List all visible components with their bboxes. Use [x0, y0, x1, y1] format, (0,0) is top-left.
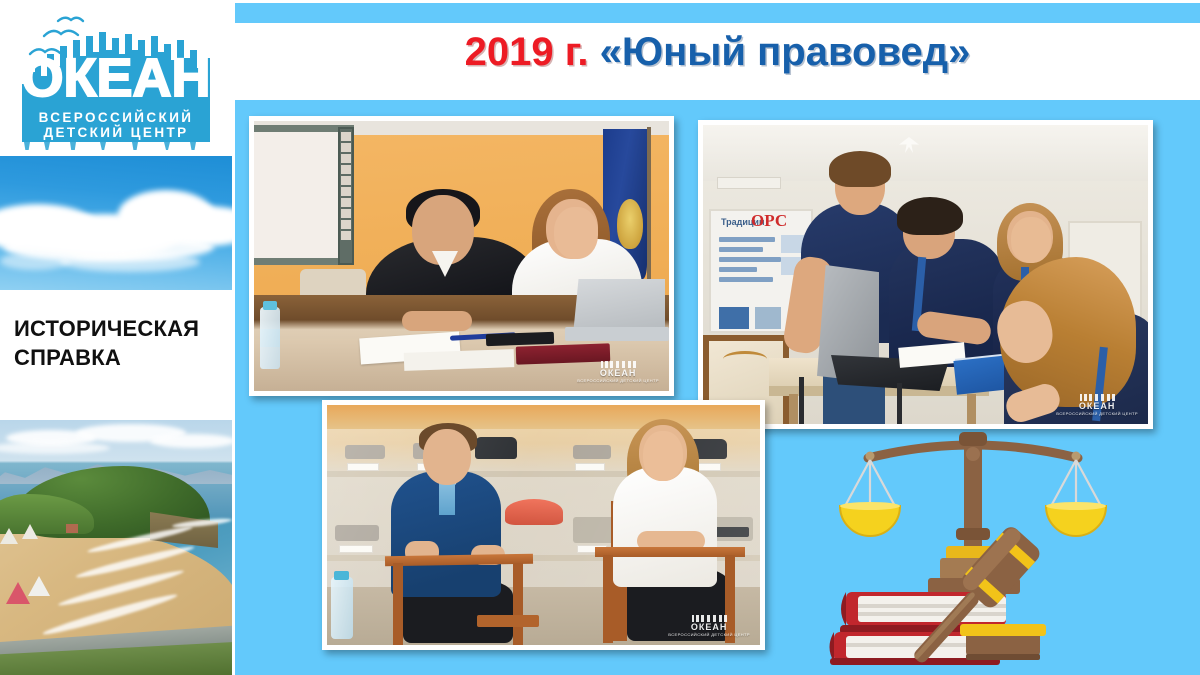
student-face: [643, 431, 683, 481]
tent: [6, 582, 30, 604]
wall-logo-text: ОРС: [751, 211, 787, 231]
title-year: 2019 г.: [465, 30, 589, 74]
tent: [0, 528, 18, 544]
tent: [22, 524, 38, 539]
skyline-icon: [690, 615, 728, 622]
sidebar-sky-photo: [0, 156, 232, 290]
desk-leg: [603, 555, 613, 643]
sidebar-logo-band: ОКЕАН ВСЕРОССИЙСКИЙ ДЕТСКИЙ ЦЕНТР: [0, 0, 232, 156]
paper-sheets: [404, 349, 515, 371]
sidebar: ОКЕАН ВСЕРОССИЙСКИЙ ДЕТСКИЙ ЦЕНТР ИСТОРИ…: [0, 0, 232, 675]
student-face: [1011, 217, 1051, 263]
student-hair: [897, 197, 963, 235]
water-bottle: [260, 307, 280, 369]
skyline-icon: [1078, 394, 1116, 401]
student-hands: [402, 311, 472, 331]
cloud-shape: [0, 442, 110, 454]
ocean-watermark: ОКЕАН ВСЕРОССИЙСКИЙ ДЕТСКИЙ ЦЕНТР: [577, 361, 659, 383]
student-face: [554, 207, 598, 259]
power-cable: [897, 383, 905, 424]
table-leg: [789, 394, 798, 424]
ocean-logo: ОКЕАН ВСЕРОССИЙСКИЙ ДЕТСКИЙ ЦЕНТР: [0, 8, 232, 148]
desk-leg: [393, 563, 403, 645]
school-desk: [595, 547, 745, 557]
sidebar-coast-photo: [0, 420, 232, 675]
title-program-name: «Юный правовед»: [600, 30, 971, 74]
sidebar-heading: ИСТОРИЧЕСКАЯ СПРАВКА: [14, 314, 229, 372]
water-bottle: [331, 577, 353, 639]
justice-illustration: [828, 420, 1118, 665]
watermark-subtext: ВСЕРОССИЙСКИЙ ДЕТСКИЙ ЦЕНТР: [577, 379, 659, 383]
tent: [28, 576, 50, 596]
flag-pole: [647, 127, 651, 295]
bottle-cap: [334, 571, 349, 580]
slide-canvas: 2019 г. «Юный правовед» ОК: [0, 0, 1200, 675]
photo-team-laptop[interactable]: Традиции ОРС: [698, 120, 1153, 429]
desk-leg: [513, 563, 523, 645]
page-title: 2019 г. «Юный правовед»: [235, 30, 1200, 75]
flag-emblem: [617, 199, 643, 249]
hut: [66, 524, 78, 533]
student-hair: [829, 151, 891, 187]
photo-two-girls-desks[interactable]: ОКЕАН ВСЕРОССИЙСКИЙ ДЕТСКИЙ ЦЕНТР: [322, 400, 765, 650]
watermark-subtext: ВСЕРОССИЙСКИЙ ДЕТСКИЙ ЦЕНТР: [668, 633, 750, 637]
svg-text:ДЕТСКИЙ ЦЕНТР: ДЕТСКИЙ ЦЕНТР: [43, 125, 188, 140]
ocean-watermark: ОКЕАН ВСЕРОССИЙСКИЙ ДЕТСКИЙ ЦЕНТР: [1056, 394, 1138, 416]
ceiling-lamp: [717, 177, 781, 189]
whiteboard-toolbar: [338, 127, 354, 265]
cloud-shape: [150, 434, 232, 448]
sidebar-heading-band: ИСТОРИЧЕСКАЯ СПРАВКА: [0, 290, 232, 420]
cloud-shape: [60, 252, 200, 272]
watermark-text: ОКЕАН: [691, 622, 728, 632]
watermark-text: ОКЕАН: [1079, 401, 1116, 411]
svg-text:ВСЕРОССИЙСКИЙ: ВСЕРОССИЙСКИЙ: [39, 110, 194, 125]
ceiling: [703, 125, 1148, 181]
top-blue-bar: [235, 3, 1200, 23]
bottle-cap: [263, 301, 277, 310]
power-cable: [799, 377, 805, 424]
smartphone: [486, 332, 554, 346]
wall-top-trim: [327, 405, 760, 429]
justice-illustration-svg: [828, 420, 1118, 665]
ocean-watermark: ОКЕАН ВСЕРОССИЙСКИЙ ДЕТСКИЙ ЦЕНТР: [668, 615, 750, 637]
ocean-logo-svg: ОКЕАН ВСЕРОССИЙСКИЙ ДЕТСКИЙ ЦЕНТР: [14, 10, 218, 150]
watermark-text: ОКЕАН: [600, 368, 637, 378]
student-in-white-blouse: [613, 467, 717, 587]
laptop-base: [565, 327, 669, 341]
watermark-subtext: ВСЕРОССИЙСКИЙ ДЕТСКИЙ ЦЕНТР: [1056, 412, 1138, 416]
svg-text:ОКЕАН: ОКЕАН: [22, 48, 211, 108]
coast-scene: [0, 420, 232, 675]
skyline-icon: [599, 361, 637, 368]
photo-courtroom-judge[interactable]: ОКЕАН ВСЕРОССИЙСКИЙ ДЕТСКИЙ ЦЕНТР: [249, 116, 674, 396]
desk-footrest: [477, 615, 539, 627]
student-head: [423, 429, 471, 485]
cloud-shape: [0, 252, 70, 270]
